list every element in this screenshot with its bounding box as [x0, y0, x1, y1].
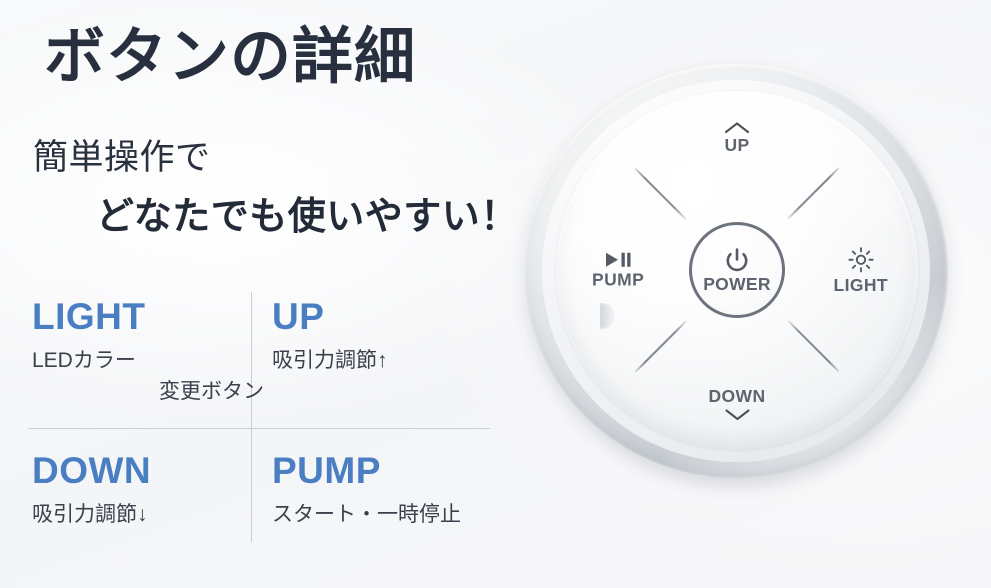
feature-grid: LIGHT LEDカラー 変更ボタン UP 吸引力調節↑ DOWN 吸引力調節↓: [0, 288, 500, 560]
feature-desc-up: 吸引力調節↑: [272, 346, 508, 376]
device-button-up[interactable]: UP: [724, 121, 750, 155]
play-pause-icon: [603, 251, 633, 268]
device-edge-notch: [600, 303, 616, 329]
chevron-up-icon: [724, 121, 750, 134]
device-button-pump-label: PUMP: [592, 271, 644, 289]
power-icon: [724, 247, 750, 274]
device-button-light-label: LIGHT: [834, 277, 889, 295]
device-button-power-label: POWER: [703, 276, 771, 294]
page-title: ボタンの詳細: [44, 24, 416, 88]
feature-desc-light-line2: 変更ボタン: [32, 377, 268, 407]
chevron-down-icon: [724, 408, 750, 421]
divider-spoke-southwest: [787, 168, 839, 220]
text-column: ボタンの詳細 簡単操作で どなたでも使いやすい！ LIGHT LEDカラー 変更…: [0, 0, 512, 588]
feature-cell-down: DOWN 吸引力調節↓: [32, 450, 268, 531]
promo-stage: ボタンの詳細 簡単操作で どなたでも使いやすい！ LIGHT LEDカラー 変更…: [0, 0, 991, 588]
divider-spoke-northeast: [635, 320, 687, 372]
device-control-panel: UP DOWN: [506, 44, 968, 506]
device-button-light[interactable]: LIGHT: [834, 246, 889, 295]
feature-cell-pump: PUMP スタート・一時停止: [272, 450, 508, 531]
device-button-power[interactable]: POWER: [689, 222, 785, 318]
feature-title-up: UP: [272, 296, 508, 337]
grid-divider-horizontal: [28, 428, 490, 429]
divider-spoke-northwest: [787, 320, 839, 372]
device-button-up-label: UP: [724, 137, 749, 155]
feature-desc-down-line1: 吸引力調節↓: [32, 503, 148, 526]
subtitle-line-2: どなたでも使いやすい！: [96, 185, 519, 240]
feature-desc-down: 吸引力調節↓: [32, 500, 268, 530]
feature-title-down: DOWN: [32, 450, 268, 491]
feature-cell-up: UP 吸引力調節↑: [272, 296, 508, 377]
feature-title-pump: PUMP: [272, 450, 508, 491]
feature-title-light: LIGHT: [32, 296, 268, 337]
feature-desc-light-line1: LEDカラー: [32, 349, 136, 372]
device-face-plate: UP DOWN: [556, 91, 918, 449]
device-button-pump[interactable]: PUMP: [592, 251, 644, 289]
device-button-down[interactable]: DOWN: [708, 388, 765, 422]
feature-cell-light: LIGHT LEDカラー 変更ボタン: [32, 296, 268, 407]
feature-desc-pump: スタート・一時停止: [272, 500, 508, 530]
brightness-sun-icon: [847, 246, 875, 274]
feature-desc-pump-line1: スタート・一時停止: [272, 503, 461, 526]
feature-desc-up-line1: 吸引力調節↑: [272, 349, 388, 372]
device-button-down-label: DOWN: [708, 388, 765, 406]
divider-spoke-southeast: [635, 168, 687, 220]
feature-desc-light: LEDカラー 変更ボタン: [32, 346, 268, 407]
subtitle-line-1: 簡単操作で: [33, 129, 211, 180]
